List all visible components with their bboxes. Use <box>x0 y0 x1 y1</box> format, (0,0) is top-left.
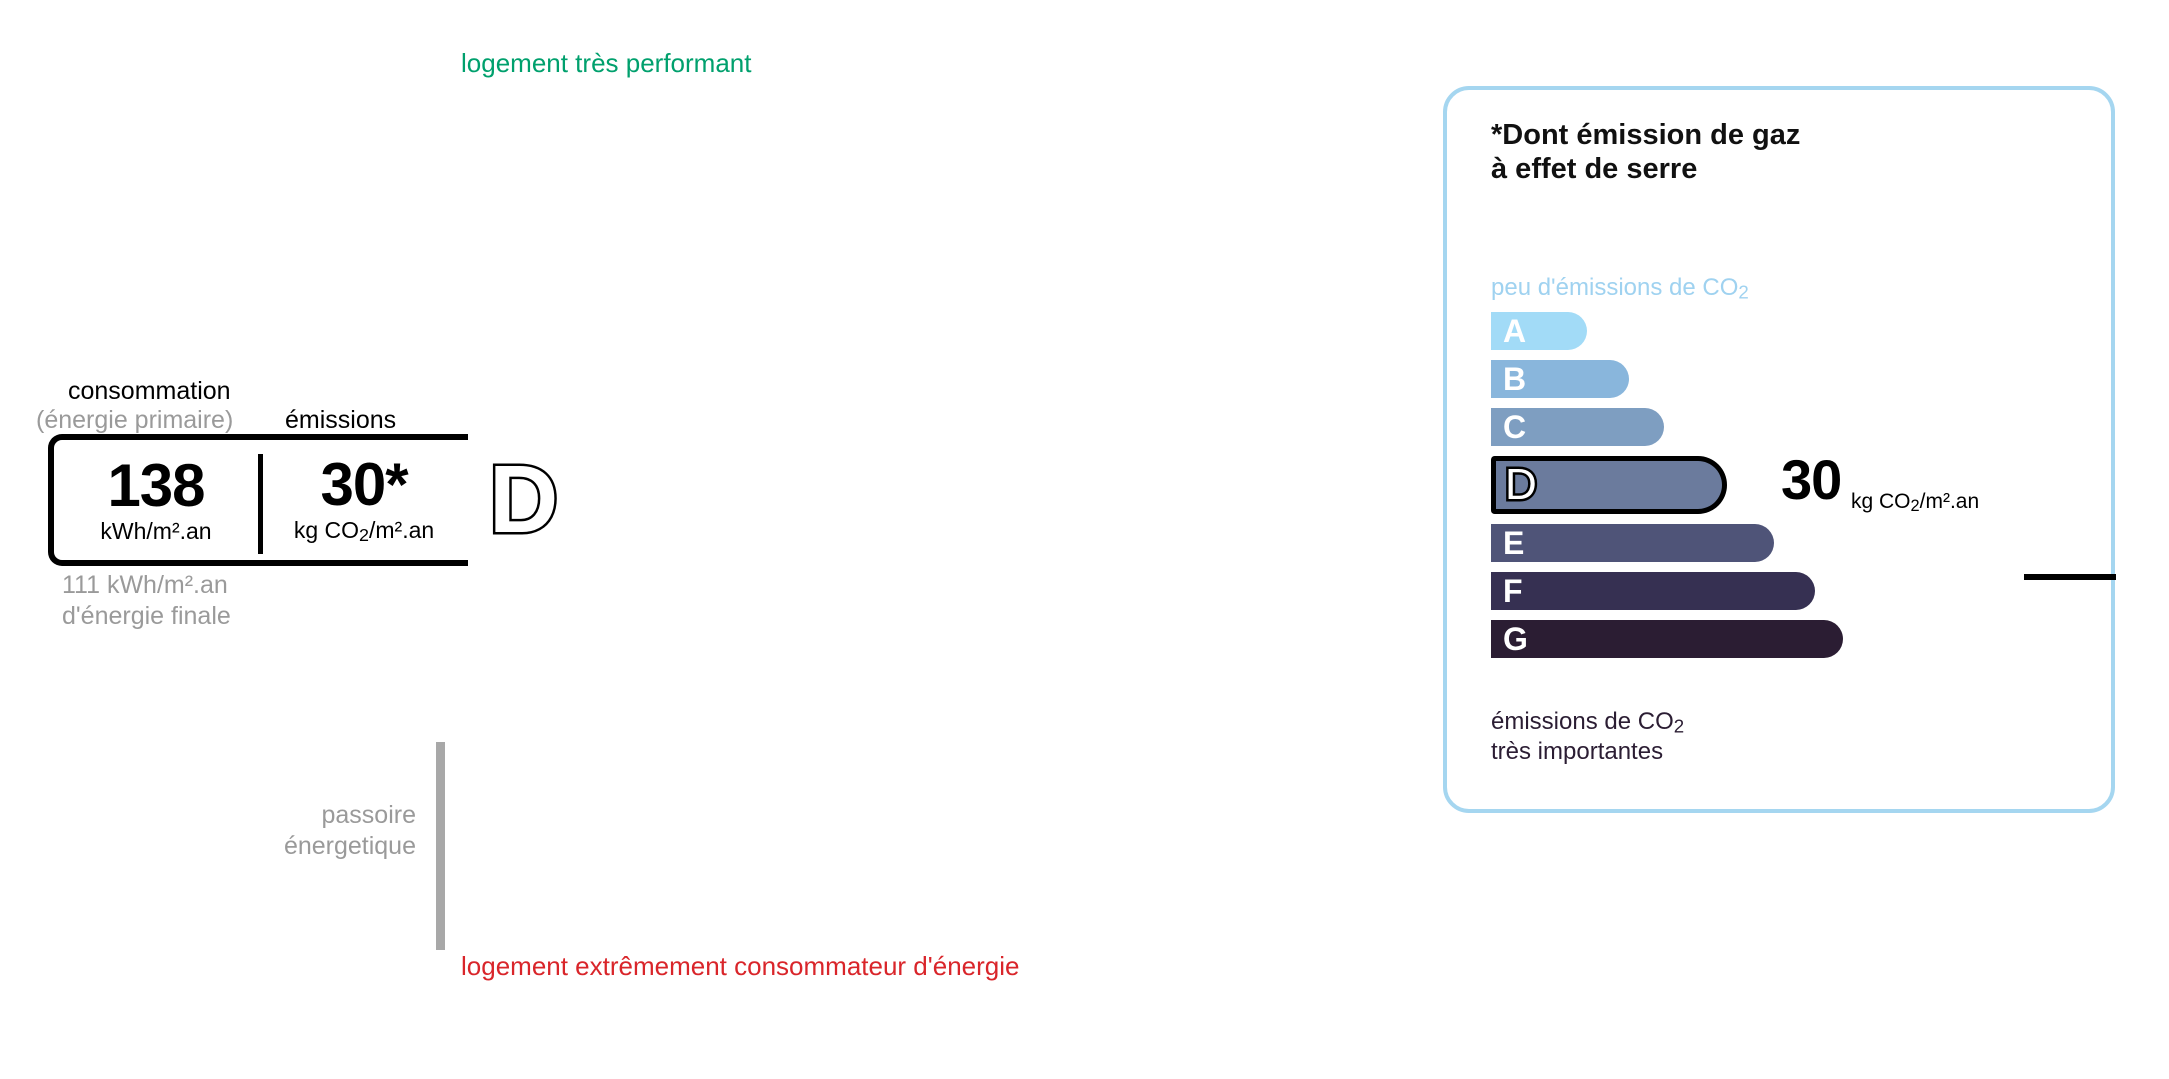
co2-panel-title-line1: *Dont émission de gaz <box>1491 118 1800 152</box>
co2-emissions-unit: kg CO2/m².an <box>294 517 434 546</box>
energy-band-letter: F <box>485 751 525 817</box>
values-divider <box>258 454 263 554</box>
co2-bar-letter-current: D <box>1505 463 1537 507</box>
co2-bottom-note-line2: très importantes <box>1491 738 1684 767</box>
co2-bottom-note-line1: émissions de CO2 <box>1491 708 1684 738</box>
co2-bar-letter: F <box>1503 575 1523 607</box>
co2-bar-shape <box>1491 524 1774 562</box>
co2-top-note: peu d'émissions de CO2 <box>1491 274 1749 303</box>
emissions-title: émissions <box>285 406 396 435</box>
co2-callout-value: 30 <box>1781 452 1841 508</box>
co2-callout-unit: kg CO2/m².an <box>1851 490 1979 516</box>
energy-consumption-unit: kWh/m².an <box>100 518 211 545</box>
co2-bar-letter: E <box>1503 527 1524 559</box>
energy-band-letter: C <box>485 248 533 314</box>
scale-bottom-label: logement extrêmement consommateur d'éner… <box>461 951 1019 982</box>
passoire-energetique-marker <box>436 742 445 950</box>
co2-bar-letter: A <box>1503 315 1526 347</box>
energy-band-letter: B <box>485 160 533 226</box>
co2-callout-leader-line <box>2024 574 2116 580</box>
energy-consumption-value: 138 <box>107 455 204 516</box>
final-energy-value: 111 kWh/m².an <box>62 570 231 601</box>
energy-band-letter-current: D <box>489 452 558 548</box>
final-energy-note: 111 kWh/m².an d'énergie finale <box>62 570 231 631</box>
final-energy-label: d'énergie finale <box>62 601 231 632</box>
energy-band-letter: G <box>485 876 536 942</box>
energy-performance-scale: logement très performant A B C D E <box>0 0 1400 1079</box>
passoire-label-line2: énergetique <box>180 831 416 862</box>
passoire-energetique-label: passoire énergetique <box>180 800 416 861</box>
co2-panel-title-line2: à effet de serre <box>1491 152 1800 186</box>
passoire-label-line1: passoire <box>180 800 416 831</box>
consumption-values-box: 138 kWh/m².an 30* kg CO2/m².an <box>48 434 468 566</box>
co2-emissions-cell: 30* kg CO2/m².an <box>264 440 464 560</box>
co2-bar-shape <box>1491 572 1815 610</box>
energy-band-letter: A <box>485 72 533 138</box>
energy-band-letter: E <box>485 602 529 668</box>
co2-bar-letter: B <box>1503 363 1526 395</box>
consumption-title: consommation <box>68 377 231 406</box>
co2-bar-letter: C <box>1503 411 1526 443</box>
co2-bottom-note: émissions de CO2 très importantes <box>1491 708 1684 767</box>
co2-bar-shape <box>1491 620 1843 658</box>
energy-consumption-cell: 138 kWh/m².an <box>54 440 258 560</box>
co2-panel-title: *Dont émission de gaz à effet de serre <box>1491 118 1800 186</box>
co2-bar-letter: G <box>1503 623 1528 655</box>
co2-emissions-panel: *Dont émission de gaz à effet de serre p… <box>1443 86 2115 813</box>
co2-emissions-value: 30* <box>320 454 407 515</box>
consumption-subtitle: (énergie primaire) <box>36 406 233 435</box>
